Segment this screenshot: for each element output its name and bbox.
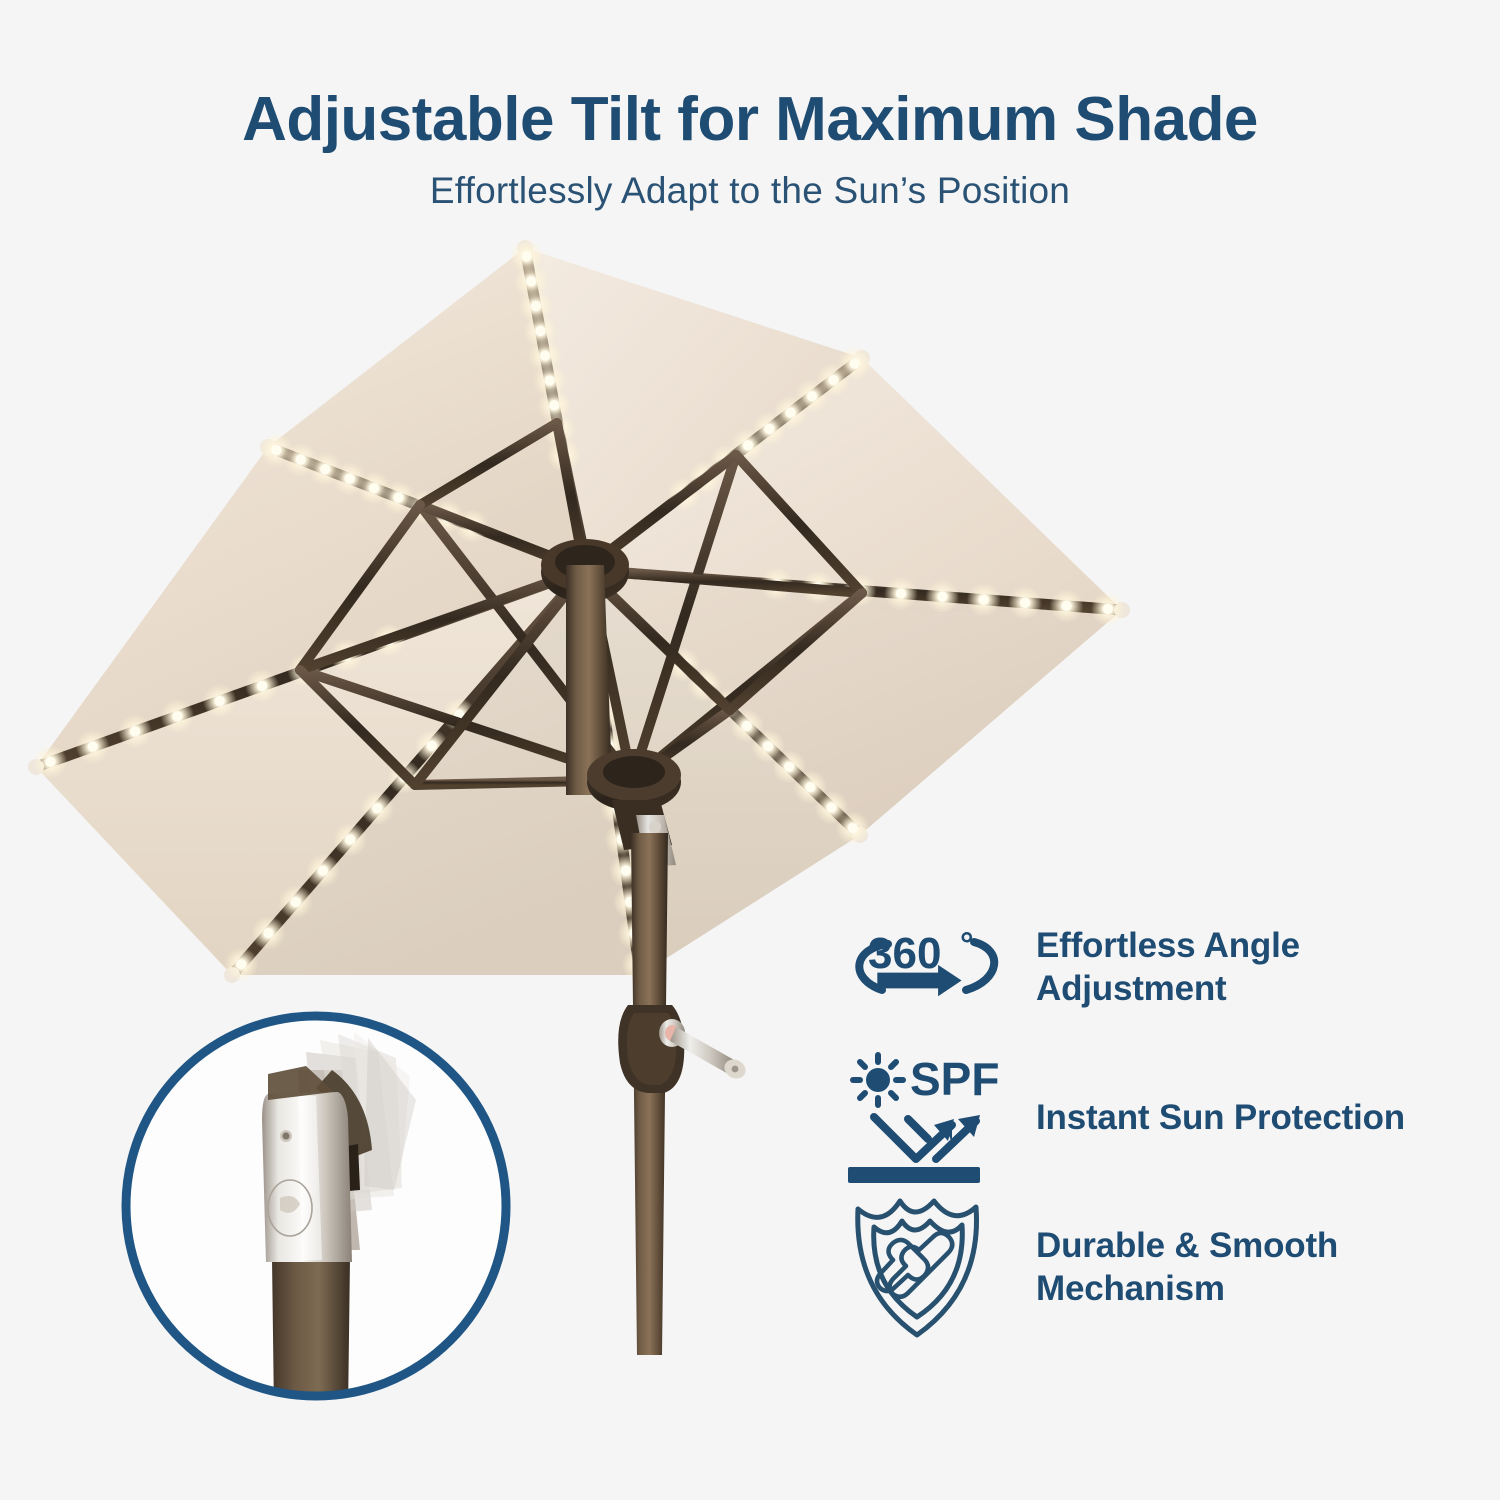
tilt-mechanism-closeup [110,1000,522,1412]
pole-main [631,833,668,1355]
feature-label-angle-adjustment: Effortless Angle Adjustment [1036,925,1300,1010]
feature-item-sun-protection: SPF Instant Sun Protection [848,1043,1498,1193]
feature-label-durable-mechanism: Durable & Smooth Mechanism [1036,1225,1338,1310]
degree-symbol: ° [960,926,974,964]
feature-item-durable-mechanism: Durable & Smooth Mechanism [848,1193,1498,1343]
feature-label-line: Adjustment [1036,968,1300,1011]
360-degree-rotation-icon: 360 ° [848,916,1006,1020]
spf-icon-text: SPF [910,1053,999,1105]
feature-list: 360 ° Effortless Angle Adjustment [848,893,1498,1343]
feature-label-sun-protection: Instant Sun Protection [1036,1097,1405,1140]
shield-with-wrenches-icon [848,1193,1006,1343]
feature-item-angle-adjustment: 360 ° Effortless Angle Adjustment [848,893,1498,1043]
360-icon-text: 360 [868,929,941,978]
infographic-canvas: Adjustable Tilt for Maximum Shade Effort… [0,0,1500,1500]
page-title: Adjustable Tilt for Maximum Shade [0,0,1500,152]
spf-sun-protection-icon: SPF [848,1047,1006,1189]
feature-label-line: Mechanism [1036,1268,1338,1311]
crank-housing [618,1005,749,1093]
page-subtitle: Effortlessly Adapt to the Sun’s Position [0,152,1500,212]
feature-label-line: Effortless Angle [1036,925,1300,968]
header-block: Adjustable Tilt for Maximum Shade Effort… [0,0,1500,212]
feature-label-line: Instant Sun Protection [1036,1097,1405,1140]
feature-label-line: Durable & Smooth [1036,1225,1338,1268]
